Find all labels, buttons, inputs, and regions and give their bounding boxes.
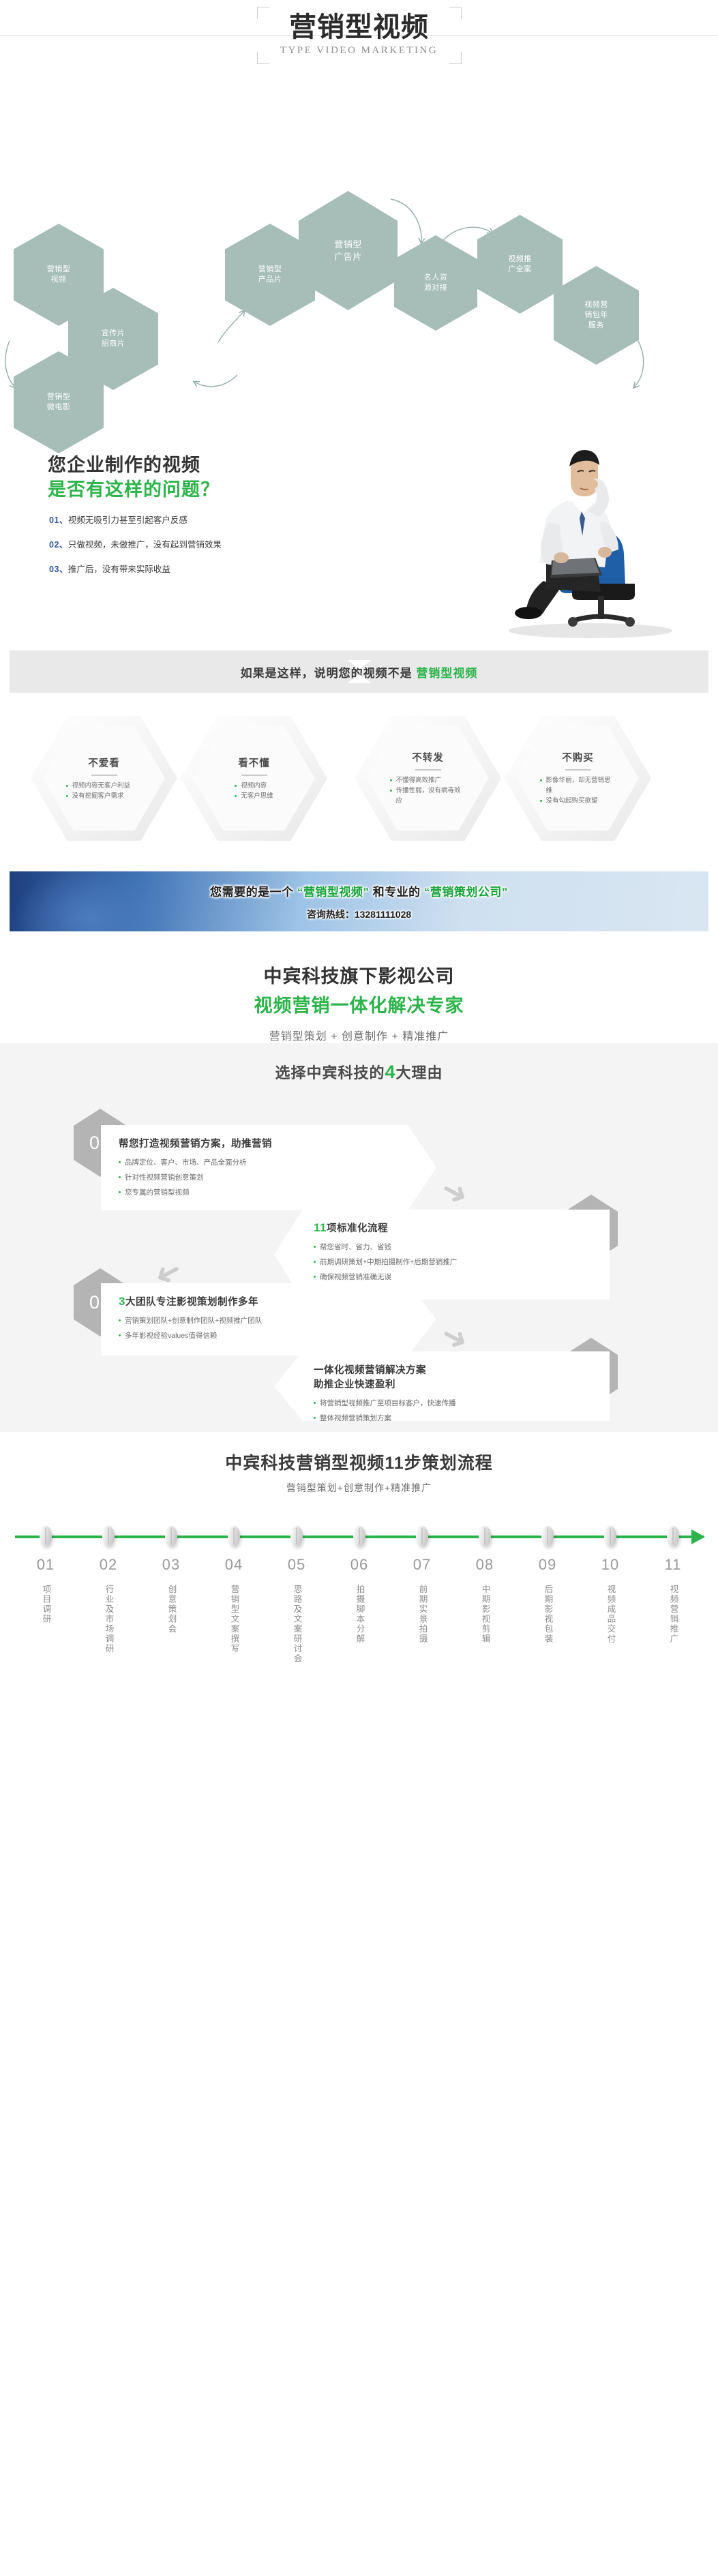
timeline-dot-09: [541, 1526, 554, 1546]
businessman-photo: [478, 435, 703, 640]
list-item: 确保视频营销准确无误: [314, 1272, 592, 1282]
step-label: 营销型文案撰写: [228, 1585, 241, 1654]
problem-hex-card-3[interactable]: 不转发不懂得高效推广传播性弱，没有病毒效应: [355, 712, 501, 845]
step-07[interactable]: 07前期实景拍摄: [398, 1556, 446, 1647]
statement-prefix: 如果是这样，说明您的视频不是: [241, 667, 417, 680]
step-label: 后期影视包装: [541, 1585, 554, 1644]
list-item: 02、只做视频，未做推广，没有起到营销效果: [49, 537, 222, 550]
reasons-heading: 选择中宾科技的4大理由: [0, 1043, 718, 1083]
step-06[interactable]: 06拍摄脚本分解: [335, 1556, 383, 1647]
reason-title-num-03: 3: [119, 1295, 125, 1308]
service-hex-6[interactable]: 名人资 源对接: [394, 235, 477, 331]
list-item: 视频内容: [235, 781, 273, 792]
page-subtitle-en: TYPE VIDEO MARKETING: [257, 45, 462, 57]
cta-quote-1: “营销型视频”: [297, 886, 370, 899]
timeline-dot-06: [353, 1526, 365, 1546]
step-number: 03: [147, 1556, 195, 1574]
list-item: 您专属的营销型视频: [119, 1188, 419, 1197]
reason-title-num-02: 11: [314, 1221, 327, 1234]
step-label: 拍摄脚本分解: [353, 1585, 366, 1644]
timeline-dot-11: [667, 1526, 679, 1546]
list-item: 整体视频营销策划方案: [314, 1413, 592, 1423]
list-item: 前期调研策划+中期拍摄制作+后期营销推广: [314, 1257, 592, 1267]
company-intro-section: 中宾科技旗下影视公司 视频营销一体化解决专家 营销型策划 + 创意制作 + 精准…: [0, 948, 718, 1043]
step-01[interactable]: 01项目调研: [22, 1556, 70, 1628]
timeline-dot-10: [604, 1526, 616, 1546]
timeline-dot-07: [416, 1526, 428, 1546]
reason-title-03: 3大团队专注影视策划制作多年: [119, 1294, 419, 1308]
steps-heading: 中宾科技营销型视频11步策划流程: [0, 1432, 718, 1474]
timeline-dot-04: [228, 1526, 240, 1546]
step-number: 08: [461, 1556, 509, 1574]
step-10[interactable]: 10视频成品交付: [586, 1556, 634, 1647]
problem-list: 01、视频无吸引力甚至引起客户反感 02、只做视频，未做推广，没有起到营销效果 …: [49, 513, 222, 586]
company-name: 中宾科技旗下影视公司: [0, 948, 718, 988]
problem-title-line1: 您企业制作的视频: [48, 450, 200, 477]
problem-hex-title: 看不懂: [238, 755, 270, 770]
corner-bracket-icon: [449, 7, 462, 19]
step-03[interactable]: 03创意策划会: [147, 1556, 195, 1638]
service-hex-cluster: 营销型 视频宣传片 招商片营销型 微电影营销型 产品片营销型 广告片名人资 源对…: [0, 170, 718, 430]
cta-headline: 您需要的是一个 “营销型视频” 和专业的 “营销策划公司”: [210, 882, 508, 899]
problem-index: 03、: [49, 565, 68, 574]
reasons-section: 选择中宾科技的4大理由 01 帮您打造视频营销方案，助推营销 品牌定位、客户、市…: [0, 1043, 718, 1432]
divider: [91, 775, 117, 776]
reasons-heading-a: 选择中宾科技的: [275, 1064, 385, 1081]
step-04[interactable]: 04营销型文案撰写: [210, 1556, 258, 1658]
landing-page: 营销型视频 TYPE VIDEO MARKETING 营销型 视频宣传片 招商片…: [0, 0, 718, 1746]
list-item: 多年影视经验values值得信赖: [119, 1331, 419, 1341]
divider: [565, 769, 591, 770]
timeline-dot-08: [479, 1526, 491, 1546]
list-item: 品牌定位、客户、市场、产品全面分析: [119, 1158, 419, 1167]
problem-hex-card-4[interactable]: 不购买影像华丽，却无营销思维没有勾起购买欲望: [505, 712, 651, 845]
problem-text: 视频无吸引力甚至引起客户反感: [68, 515, 188, 525]
list-item: 帮您省时、省力、省钱: [314, 1242, 592, 1252]
corner-bracket-icon: [449, 52, 462, 64]
step-number: 09: [524, 1556, 571, 1574]
problem-hex-title: 不爱看: [88, 755, 120, 770]
problem-hex-section: 不爱看视频内容无客户利益没有挖掘客户需求看不懂视频内容无客户思维不转发不懂得高效…: [0, 702, 718, 859]
service-hex-label: 名人资 源对接: [424, 273, 448, 293]
problem-section: 您企业制作的视频 是否有这样的问题？ 01、视频无吸引力甚至引起客户反感 02、…: [0, 430, 718, 641]
reason-card-03[interactable]: 3大团队专注影视策划制作多年 营销策划团队+创意制作团队+视频推广团队 多年影视…: [101, 1283, 436, 1356]
list-item: 传播性弱，没有病毒效应: [390, 786, 466, 806]
flow-arrow-icon: ➜: [436, 1317, 474, 1358]
service-hex-7[interactable]: 视频推 广全案: [477, 215, 563, 314]
page-title: 营销型视频: [257, 7, 462, 44]
list-item: 不懂得高效推广: [390, 776, 466, 786]
problem-hex-bullets: 视频内容无客户思维: [235, 781, 273, 801]
service-hex-label: 营销型 视频: [47, 265, 71, 285]
reason-bullets-02: 帮您省时、省力、省钱 前期调研策划+中期拍摄制作+后期营销推广 确保视频营销准确…: [314, 1242, 592, 1283]
reason-title-text-01: 帮您打造视频营销方案，助推营销: [119, 1139, 272, 1150]
step-label: 视频营销推广: [667, 1585, 680, 1644]
step-number: 05: [273, 1556, 320, 1574]
cta-hotline[interactable]: 咨询热线：13281111028: [307, 908, 411, 921]
service-hex-label: 营销型 微电影: [47, 392, 71, 413]
timeline-dot-03: [165, 1526, 177, 1546]
reasons-heading-b: 大理由: [396, 1064, 443, 1081]
list-item: 01、视频无吸引力甚至引起客户反感: [49, 513, 222, 526]
problem-hex-title: 不转发: [412, 750, 444, 764]
reason-title-02: 11项标准化流程: [314, 1220, 592, 1235]
list-item: 影像华丽，却无营销思维: [540, 776, 616, 796]
step-09[interactable]: 09后期影视包装: [524, 1556, 571, 1647]
timeline-dot-05: [290, 1526, 303, 1546]
service-hex-label: 营销型 产品片: [258, 265, 282, 285]
divider: [241, 775, 267, 776]
steps-heading-number: 11: [385, 1454, 404, 1473]
flow-arrow-icon: ➜: [436, 1172, 474, 1212]
corner-bracket-icon: [257, 7, 269, 19]
step-label: 前期实景拍摄: [416, 1585, 429, 1644]
problem-hex-bullets: 不懂得高效推广传播性弱，没有病毒效应: [390, 776, 466, 806]
step-11[interactable]: 11视频营销推广: [649, 1556, 697, 1647]
timeline-dot-01: [40, 1526, 52, 1546]
reason-bullets-04: 将营销型视频推广至项目标客户，快速传播 整体视频营销策划方案: [314, 1398, 592, 1423]
step-label: 项目调研: [40, 1585, 53, 1624]
problem-index: 01、: [49, 515, 68, 525]
service-hex-label: 宣传片 招商片: [102, 329, 125, 349]
cta-quote-2: “营销策划公司”: [424, 886, 508, 899]
reason-title-01: 帮您打造视频营销方案，助推营销: [119, 1136, 419, 1150]
timeline-arrow-icon: [691, 1529, 705, 1544]
problem-hex-bullets: 影像华丽，却无营销思维没有勾起购买欲望: [540, 776, 616, 806]
statement-highlight: 营销型视频: [416, 667, 477, 680]
list-item: 没有勾起购买欲望: [540, 796, 616, 807]
step-label: 视频成品交付: [604, 1585, 617, 1644]
list-item: 视频内容无客户利益: [66, 781, 143, 792]
service-hex-label: 视频推 广全案: [508, 254, 532, 275]
list-item: 无客户思维: [235, 792, 273, 802]
problem-hex-inner: 不转发不懂得高效推广传播性弱，没有病毒效应: [367, 723, 489, 834]
step-number: 02: [85, 1556, 132, 1574]
reason-card-01[interactable]: 帮您打造视频营销方案，助推营销 品牌定位、客户、市场、产品全面分析 针对性视频营…: [101, 1125, 436, 1210]
step-label: 中期影视剪辑: [479, 1585, 492, 1644]
step-label: 思路及文案研讨会: [290, 1585, 303, 1664]
reason-title-text-02: 项标准化流程: [327, 1223, 388, 1234]
company-slogan: 视频营销一体化解决专家: [0, 991, 718, 1017]
problem-text: 只做视频，未做推广，没有起到营销效果: [68, 540, 222, 550]
problem-hex-bullets: 视频内容无客户利益没有挖掘客户需求: [66, 781, 143, 801]
service-hex-label: 营销型 广告片: [334, 239, 362, 263]
step-number: 11: [649, 1556, 697, 1574]
steps-heading-a: 中宾科技营销型视频: [225, 1454, 385, 1473]
problem-hex-card-2[interactable]: 看不懂视频内容无客户思维: [181, 712, 327, 845]
step-08[interactable]: 08中期影视剪辑: [461, 1556, 509, 1647]
steps-section: 中宾科技营销型视频11步策划流程 营销型策划+创意制作+精准推广 01项目调研0…: [0, 1432, 718, 1746]
service-hex-8[interactable]: 视频营 销包年 服务: [554, 266, 639, 365]
list-item: 针对性视频营销创意策划: [119, 1173, 419, 1182]
problem-text: 推广后，没有带来实际收益: [68, 565, 170, 574]
step-number: 10: [586, 1556, 634, 1574]
problem-hex-title: 不购买: [562, 750, 594, 764]
header-title-box: 营销型视频 TYPE VIDEO MARKETING: [257, 7, 462, 64]
list-item: 03、推广后，没有带来实际收益: [49, 562, 222, 575]
list-item: 将营销型视频推广至项目标客户，快速传播: [314, 1398, 592, 1408]
steps-subheading: 营销型策划+创意制作+精准推广: [0, 1481, 718, 1495]
problem-hex-card-1[interactable]: 不爱看视频内容无客户利益没有挖掘客户需求: [31, 712, 177, 845]
step-number: 01: [22, 1556, 70, 1574]
timeline-dot-02: [102, 1526, 115, 1546]
divider: [415, 769, 441, 770]
company-services: 营销型策划 + 创意制作 + 精准推广: [0, 1027, 718, 1043]
cta-text-b: 和专业的: [369, 886, 423, 899]
statement-banner: 如果是这样，说明您的视频不是 营销型视频: [10, 650, 708, 693]
notch-top-icon: [347, 660, 372, 669]
reason-card-04[interactable]: 一体化视频营销解决方案 助推企业快速盈利 将营销型视频推广至项目标客户，快速传播…: [274, 1351, 610, 1421]
cta-banner[interactable]: 您需要的是一个 “营销型视频” 和专业的 “营销策划公司” 咨询热线：13281…: [10, 871, 708, 931]
page-header: 营销型视频 TYPE VIDEO MARKETING: [0, 0, 718, 170]
problem-hex-inner: 看不懂视频内容无客户思维: [193, 723, 315, 834]
cta-text-a: 您需要的是一个: [210, 886, 297, 899]
step-label: 行业及市场调研: [102, 1585, 115, 1654]
cta-section: 您需要的是一个 “营销型视频” 和专业的 “营销策划公司” 咨询热线：13281…: [0, 859, 718, 948]
step-number: 04: [210, 1556, 258, 1574]
notch-bottom-icon: [347, 674, 372, 683]
statement-banner-section: 如果是这样，说明您的视频不是 营销型视频: [0, 641, 718, 702]
problem-hex-inner: 不购买影像华丽，却无营销思维没有勾起购买欲望: [517, 723, 639, 834]
step-number: 06: [335, 1556, 383, 1574]
step-05[interactable]: 05思路及文案研讨会: [273, 1556, 320, 1667]
step-label: 创意策划会: [165, 1585, 178, 1634]
reasons-heading-number: 4: [385, 1062, 395, 1082]
problem-hex-inner: 不爱看视频内容无客户利益没有挖掘客户需求: [43, 723, 165, 834]
reason-bullets-03: 营销策划团队+创意制作团队+视频推广团队 多年影视经验values值得信赖: [119, 1316, 419, 1341]
problem-index: 02、: [49, 540, 68, 550]
problem-title-line2: 是否有这样的问题？: [48, 475, 220, 501]
step-number: 07: [398, 1556, 446, 1574]
corner-bracket-icon: [257, 52, 269, 64]
step-02[interactable]: 02行业及市场调研: [85, 1556, 132, 1658]
reason-title-04: 一体化视频营销解决方案 助推企业快速盈利: [314, 1362, 592, 1391]
list-item: 营销策划团队+创意制作团队+视频推广团队: [119, 1316, 419, 1326]
reason-bullets-01: 品牌定位、客户、市场、产品全面分析 针对性视频营销创意策划 您专属的营销型视频: [119, 1158, 419, 1198]
reason-title-text-03: 大团队专注影视策划制作多年: [125, 1297, 258, 1308]
service-hex-label: 视频营 销包年 服务: [584, 300, 608, 331]
steps-heading-b: 步策划流程: [404, 1454, 493, 1473]
list-item: 没有挖掘客户需求: [66, 792, 143, 802]
